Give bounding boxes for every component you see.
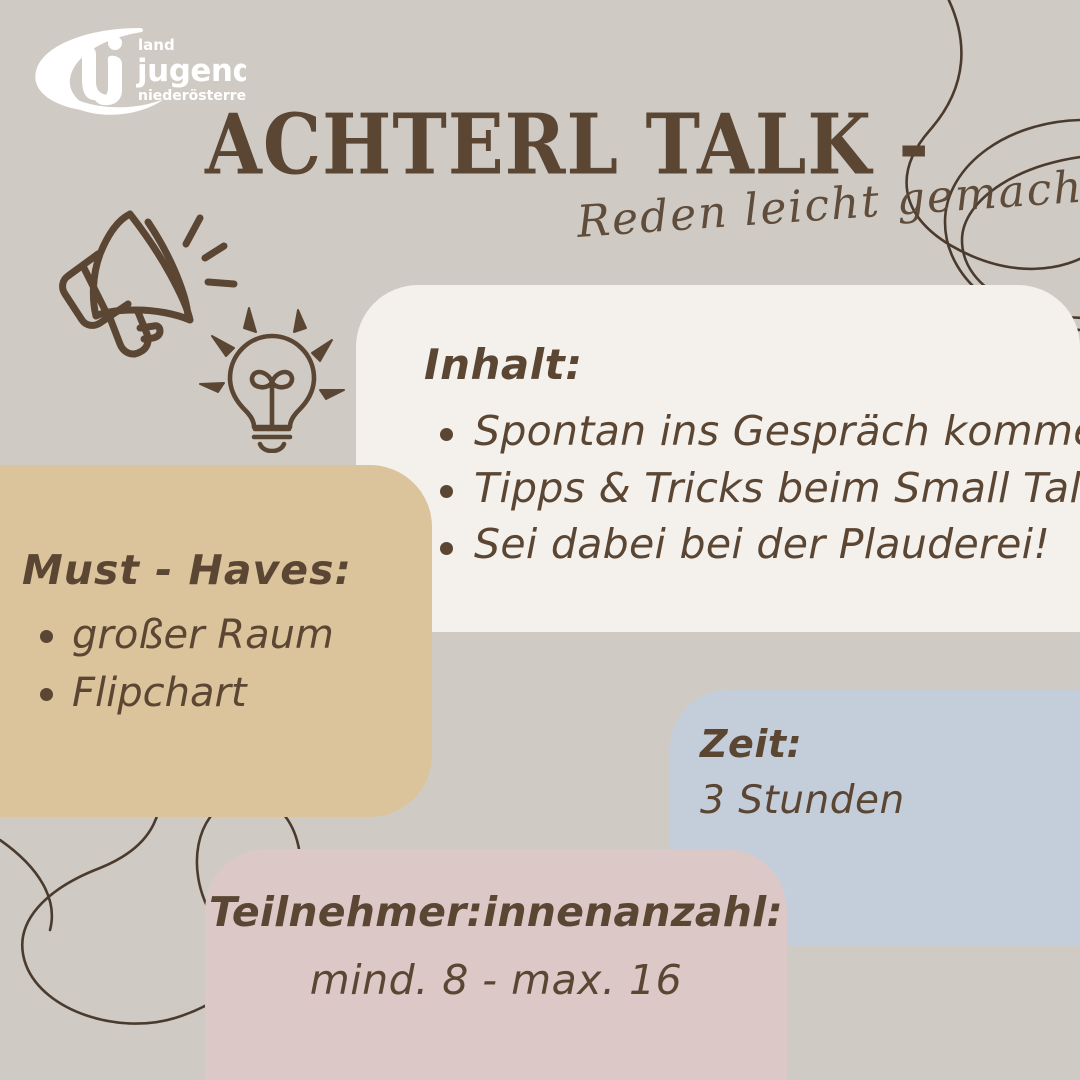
content-section: Inhalt: Spontan ins Gespräch kommen Tipp… — [424, 340, 1074, 573]
must-haves-section: Must - Haves: großer Raum Flipchart — [22, 546, 422, 722]
logo-line1: land — [138, 36, 175, 54]
logo-line2: jugend — [135, 53, 246, 89]
must-haves-heading: Must - Haves: — [22, 546, 422, 594]
zeit-section: Zeit: 3 Stunden — [700, 722, 905, 823]
list-item: Flipchart — [72, 664, 422, 722]
content-list: Spontan ins Gespräch kommen Tipps & Tric… — [424, 403, 1074, 573]
must-haves-list: großer Raum Flipchart — [22, 606, 422, 722]
list-item: Tipps & Tricks beim Small Talk — [474, 460, 1074, 517]
teilnehmer-heading: Teilnehmer:innenanzahl: — [205, 888, 787, 936]
teilnehmer-section: Teilnehmer:innenanzahl: mind. 8 - max. 1… — [205, 888, 787, 1004]
list-item: großer Raum — [72, 606, 422, 664]
teilnehmer-value: mind. 8 - max. 16 — [205, 956, 787, 1004]
list-item: Sei dabei bei der Plauderei! — [474, 516, 1074, 573]
content-heading: Inhalt: — [424, 340, 1074, 389]
poster-canvas: land jugend niederösterreich ACHTERL TAL… — [0, 0, 1080, 1080]
zeit-value: 3 Stunden — [700, 778, 905, 823]
list-item: Spontan ins Gespräch kommen — [474, 403, 1074, 460]
title-block: ACHTERL TALK - Reden leicht gemacht — [205, 104, 1005, 248]
lightbulb-icon — [192, 298, 352, 453]
zeit-heading: Zeit: — [700, 722, 905, 766]
